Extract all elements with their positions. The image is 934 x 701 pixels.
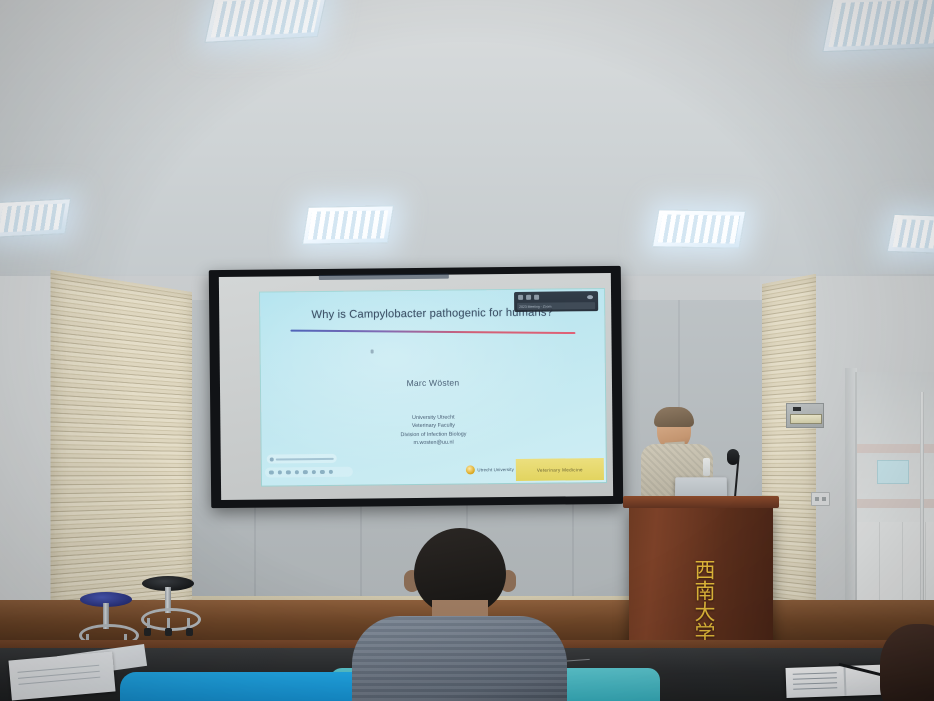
comment-icon[interactable] [311, 470, 316, 475]
logo-label: Utrecht University [477, 467, 514, 472]
projection-top-strip [319, 274, 449, 280]
stamp-icon[interactable] [277, 470, 282, 475]
meeting-window-controls[interactable]: 2023 Meeting - Zoom [514, 291, 598, 312]
panel-switch-icon [793, 407, 801, 411]
share-icon[interactable] [328, 470, 333, 475]
meeting-status-text: 2023 Meeting - Zoom [519, 304, 551, 308]
slide-author: Marc Wösten [261, 376, 605, 390]
notebook-spine [843, 666, 846, 696]
meeting-status-bar: 2023 Meeting - Zoom [517, 302, 595, 310]
audience-member-front [352, 528, 567, 701]
projection-screen: Why is Campylobacter pathogenic for huma… [209, 266, 623, 508]
slide-affiliation: University Utrecht Veterinary Faculty Di… [261, 412, 605, 449]
handwriting-line [793, 682, 837, 685]
handwriting-line [793, 677, 837, 680]
banner-label: Veterinary Medicine [537, 467, 583, 472]
utrecht-university-logo: Utrecht University [465, 465, 514, 475]
close-icon[interactable] [534, 295, 539, 300]
stool-caster [186, 628, 193, 636]
screen-surface: Why is Campylobacter pathogenic for huma… [219, 273, 613, 500]
stool-blue [80, 592, 132, 607]
ceiling [0, 0, 934, 300]
panel-window [790, 414, 822, 424]
handwriting-line [793, 672, 837, 675]
meeting-status-pill[interactable] [267, 454, 337, 464]
stool-caster [165, 628, 172, 636]
ceiling-light-panel [887, 214, 934, 254]
lecture-hall-photo: Why is Campylobacter pathogenic for huma… [0, 0, 934, 701]
pen-icon[interactable] [286, 470, 291, 475]
mouse-cursor-icon[interactable] [371, 349, 374, 353]
stool-caster [144, 628, 151, 636]
select-icon[interactable] [269, 470, 274, 475]
view-icon[interactable] [587, 295, 593, 299]
ceiling-light-panel [652, 209, 746, 249]
presentation-slide: Why is Campylobacter pathogenic for huma… [260, 289, 606, 486]
audience-sweater [352, 616, 567, 701]
ceiling-light-panel [0, 198, 71, 238]
settings-icon[interactable] [320, 470, 325, 475]
window-buttons[interactable] [518, 295, 539, 300]
veterinary-medicine-banner: Veterinary Medicine [516, 458, 604, 481]
status-label-placeholder [276, 457, 334, 460]
slide-divider-rule [290, 330, 575, 335]
presenter-hair [654, 407, 694, 427]
eraser-icon[interactable] [303, 470, 308, 475]
maximize-icon[interactable] [526, 295, 531, 300]
university-crest-icon [465, 465, 474, 474]
ceiling-light-panel [822, 0, 934, 52]
spotlight-icon[interactable] [294, 470, 299, 475]
corridor-poster [877, 460, 909, 484]
minimize-icon[interactable] [518, 295, 523, 300]
power-outlet [811, 492, 830, 506]
electrical-panel [786, 403, 824, 428]
podium-top-surface [623, 496, 779, 508]
ceiling-light-panel [302, 205, 394, 244]
stool-black [142, 576, 194, 591]
handwriting-line [793, 687, 837, 690]
ceiling-light-panel [204, 0, 327, 43]
annotation-toolbar[interactable] [265, 467, 353, 478]
record-icon [270, 457, 274, 461]
microphone-icon [727, 449, 739, 465]
water-bottle [703, 458, 710, 476]
